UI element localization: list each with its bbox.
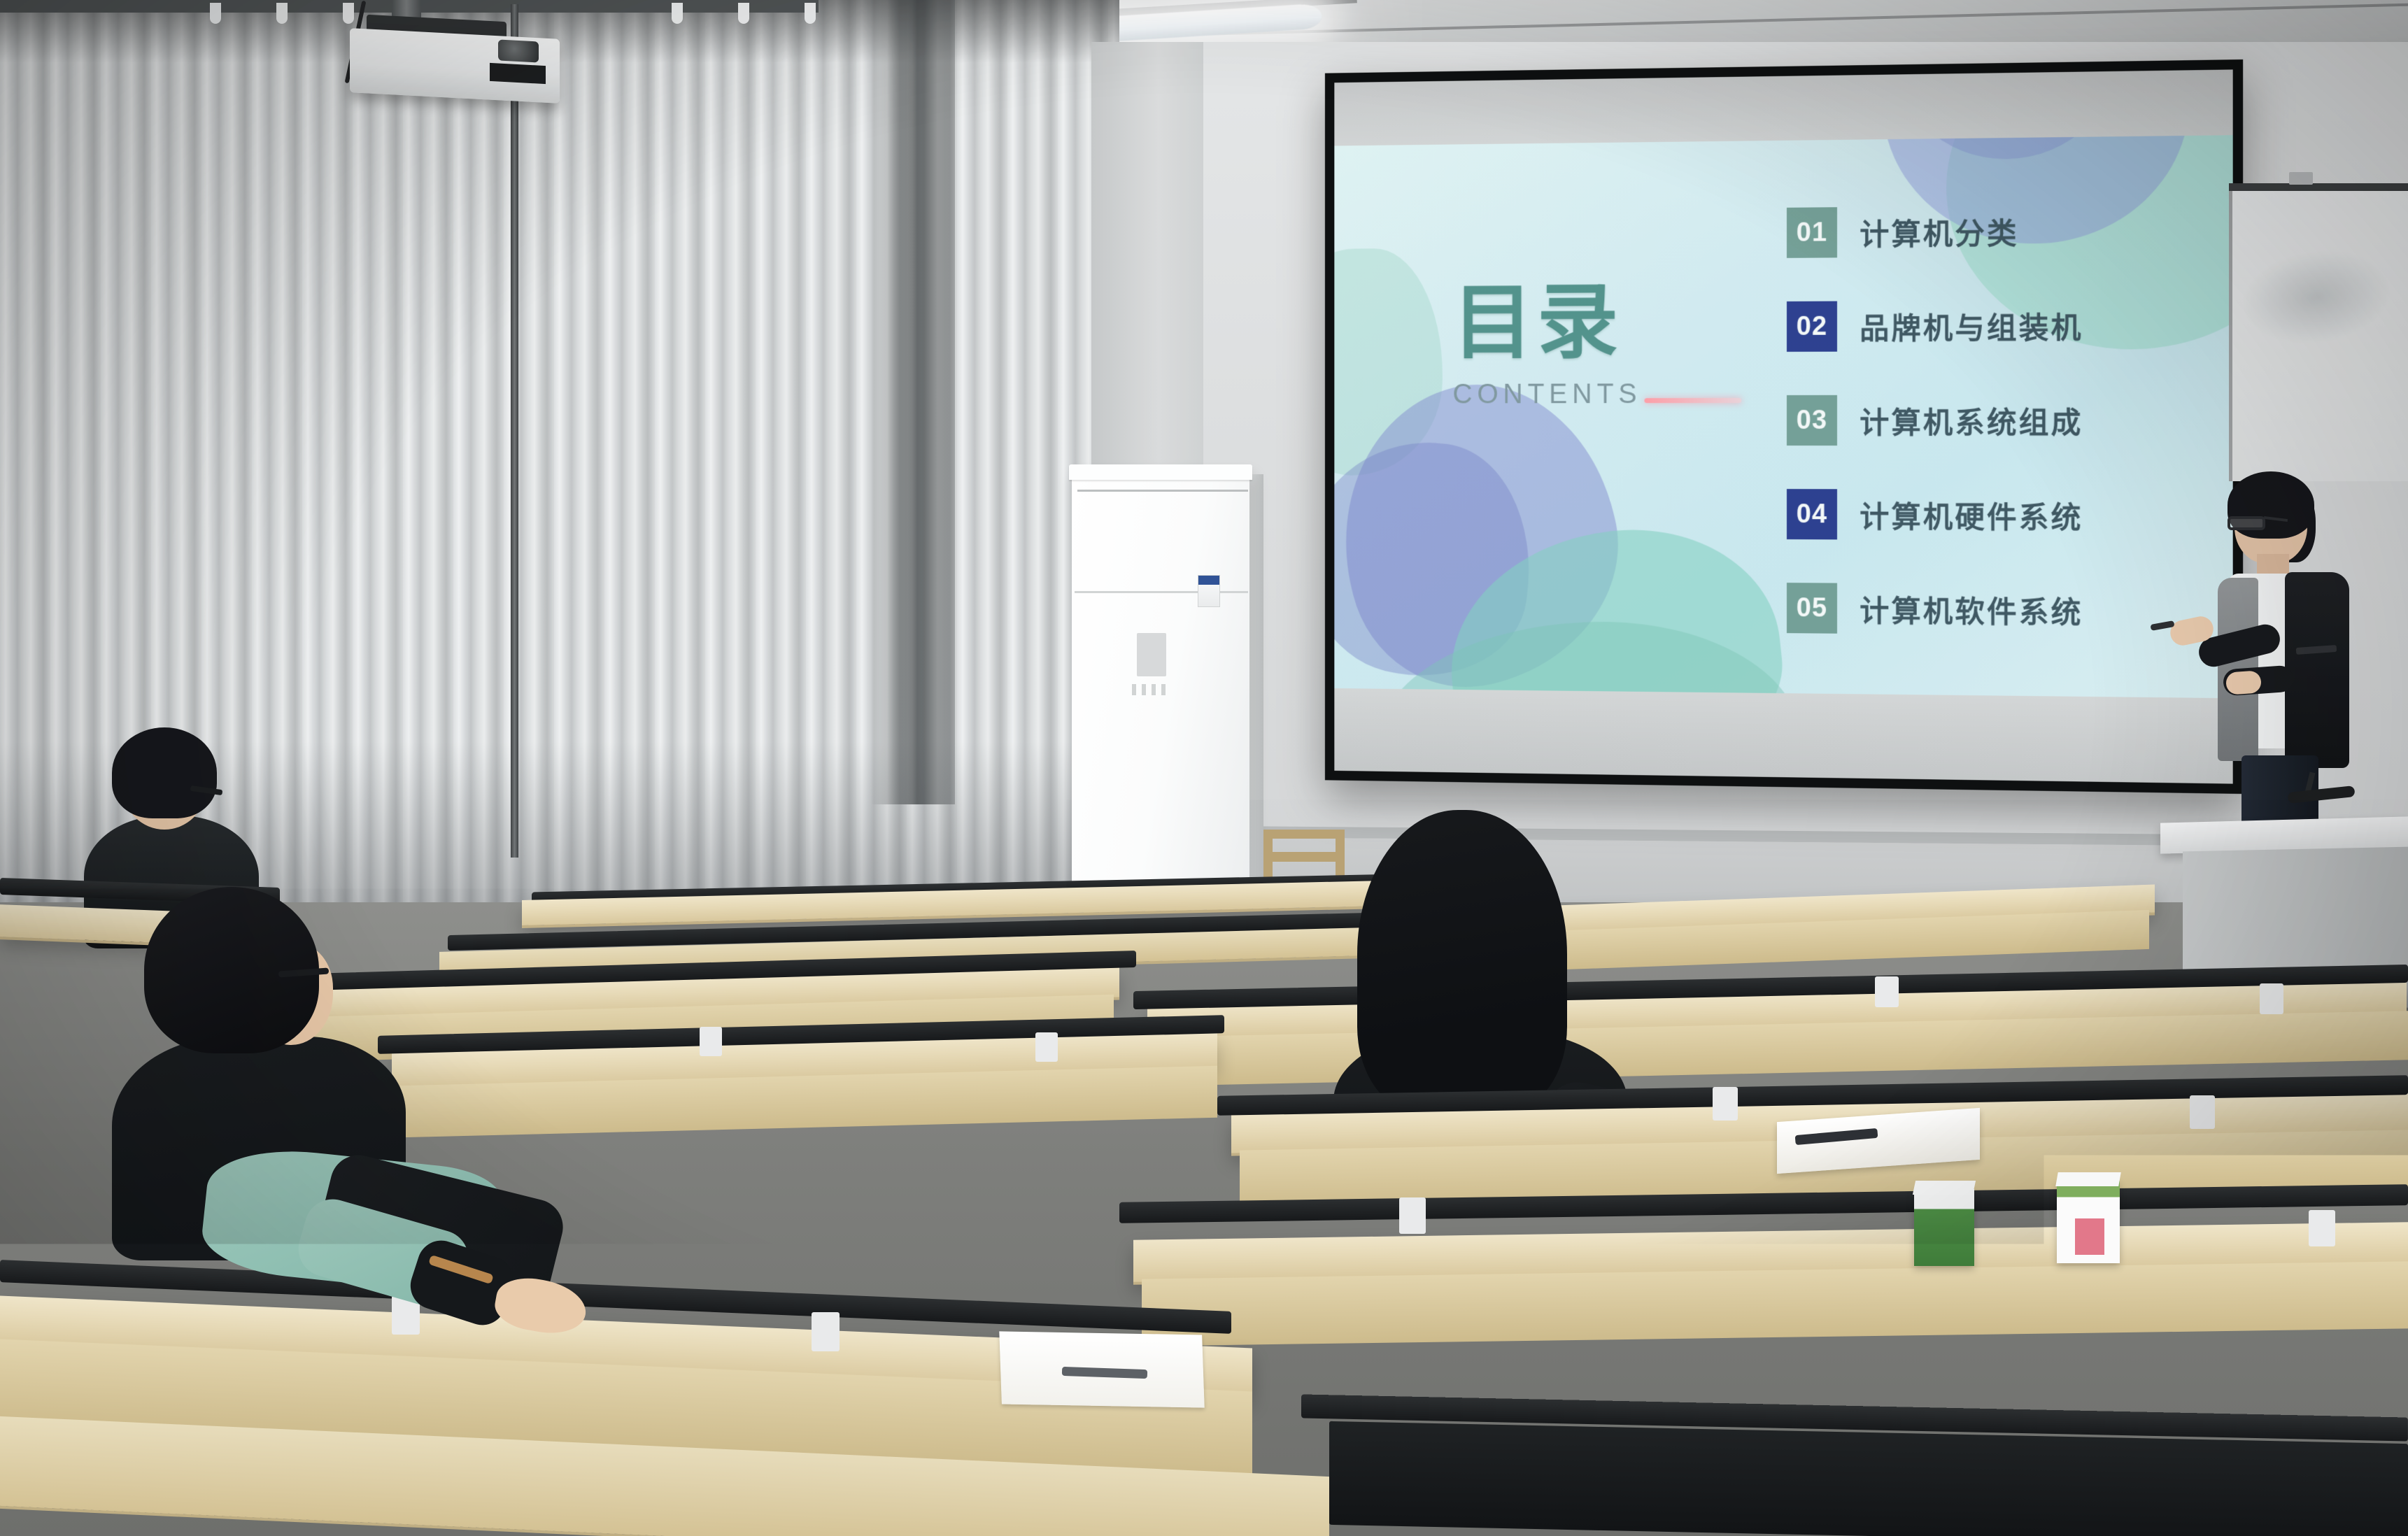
carton-green[interactable] <box>1914 1189 1974 1266</box>
toc-item-02[interactable]: 02 品牌机与组装机 <box>1787 300 2083 352</box>
desk-clamp <box>2190 1095 2215 1129</box>
toc-item-03[interactable]: 03 计算机系统组成 <box>1787 394 2083 446</box>
toc-item-04[interactable]: 04 计算机硬件系统 <box>1787 489 2083 541</box>
ac-panel-seam <box>1077 490 1248 492</box>
slide-title-block: 目录 CONTENTS <box>1452 280 1741 410</box>
whiteboard-eraser[interactable] <box>2289 172 2313 185</box>
student-hand <box>492 1272 590 1339</box>
whiteboard-rail <box>2229 183 2408 191</box>
toc-label: 计算机硬件系统 <box>1860 493 2083 537</box>
projector-shadow <box>490 63 546 84</box>
screen-unlit-top <box>1334 69 2232 145</box>
chair-rail <box>1268 852 1343 862</box>
toc-label: 计算机分类 <box>1860 209 2019 253</box>
slide-title-chinese: 目录 <box>1452 280 1741 364</box>
desk-clamp <box>812 1312 840 1351</box>
ac-label-sticker <box>1198 575 1220 607</box>
desk-clamp <box>1713 1087 1738 1121</box>
toc-number-badge: 04 <box>1787 489 1837 539</box>
curtain-hook <box>276 3 288 24</box>
toc-number-badge: 03 <box>1787 395 1837 446</box>
desk-clamp <box>700 1027 722 1056</box>
ac-top-lid <box>1069 464 1252 480</box>
toc-number-badge: 01 <box>1787 207 1837 258</box>
curtain-hook <box>805 3 816 24</box>
toc-number-badge: 05 <box>1787 583 1837 634</box>
curtain-shadow-edge <box>871 0 955 804</box>
curtain-pole <box>511 4 518 858</box>
ac-panel-seam <box>1075 591 1248 593</box>
toc-item-05[interactable]: 05 计算机软件系统 <box>1787 583 2083 636</box>
student-foreground <box>112 887 602 1349</box>
curtain-hook <box>672 3 683 24</box>
desk-clamp <box>2309 1210 2335 1246</box>
projector-lens <box>498 39 539 62</box>
ac-indicator-lights <box>1132 684 1171 695</box>
ac-display-panel[interactable] <box>1137 633 1166 676</box>
curtain-hook <box>343 3 354 24</box>
screen-unlit-bottom <box>1334 688 2232 784</box>
screen-surface: 目录 CONTENTS 01 计算机分类 02 品牌机与组装机 <box>1334 69 2232 783</box>
instructor-jacket-right <box>2285 572 2349 768</box>
carton-red-label <box>2075 1218 2104 1255</box>
air-conditioner <box>1072 470 1249 890</box>
desk-clamp <box>1399 1197 1426 1234</box>
toc-number-badge: 02 <box>1787 301 1837 352</box>
presentation-slide: 目录 CONTENTS 01 计算机分类 02 品牌机与组装机 <box>1334 135 2232 698</box>
instructor-hand-lower <box>2225 670 2262 695</box>
laser-pointer-trace <box>1644 398 1741 403</box>
slide-subtitle-row: CONTENTS <box>1452 378 1741 410</box>
slide-toc-list: 01 计算机分类 02 品牌机与组装机 03 计算机系统组成 04 计算机硬件系… <box>1787 205 2083 636</box>
projection-screen: 目录 CONTENTS 01 计算机分类 02 品牌机与组装机 <box>1325 59 2243 794</box>
instructor-glasses <box>2228 516 2265 530</box>
student-hair <box>112 727 217 818</box>
toc-label: 计算机软件系统 <box>1860 587 2083 632</box>
ac-side-panel <box>1249 474 1263 884</box>
student-hair <box>1357 810 1567 1111</box>
toc-label: 计算机系统组成 <box>1860 399 2083 442</box>
toc-item-01[interactable]: 01 计算机分类 <box>1787 205 2083 258</box>
curtain-hook <box>210 3 221 24</box>
toc-label: 品牌机与组装机 <box>1860 304 2083 348</box>
desk-clamp <box>2260 983 2283 1014</box>
classroom-photo: 目录 CONTENTS 01 计算机分类 02 品牌机与组装机 <box>0 0 2408 1536</box>
carton-green-top <box>1913 1181 1976 1195</box>
curtain-hook <box>738 3 749 24</box>
slide-title-english: CONTENTS <box>1452 378 1641 410</box>
desk-clamp <box>1875 976 1899 1007</box>
carton-red-top <box>2055 1172 2121 1186</box>
desk-clamp <box>1035 1032 1058 1062</box>
